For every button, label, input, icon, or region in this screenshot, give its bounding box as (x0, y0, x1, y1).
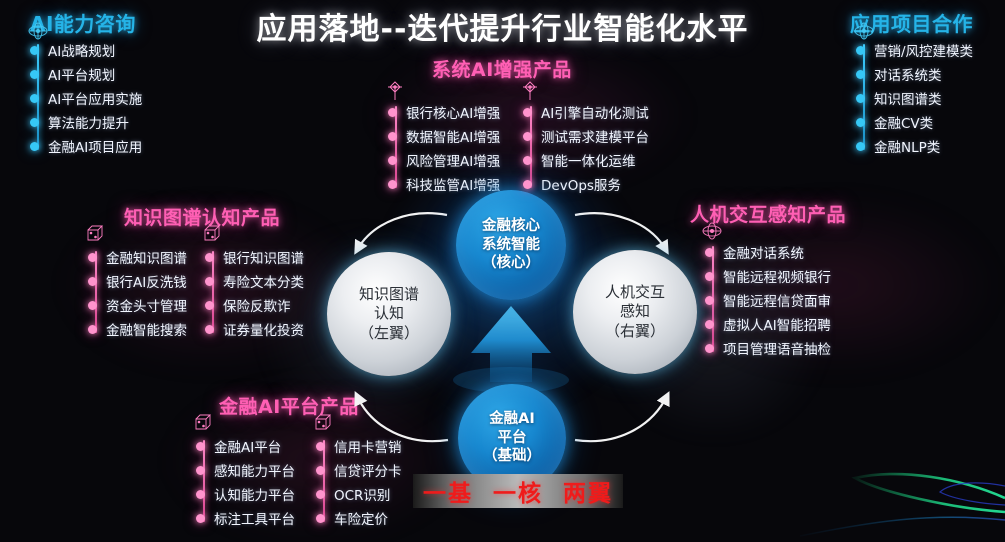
list-item[interactable]: 金融CV类 (856, 110, 973, 134)
list-human-interaction: 金融对话系统 智能远程视频银行 智能远程信贷面审 虚拟人AI智能招聘 项目管理语… (705, 240, 831, 360)
bullet-dot (30, 94, 39, 103)
bullet-dot (523, 132, 532, 141)
list-item[interactable]: OCR识别 (316, 482, 402, 506)
bullet-dot (388, 132, 397, 141)
list-item[interactable]: 保险反欺诈 (205, 293, 304, 317)
list-item[interactable]: 虚拟人AI智能招聘 (705, 312, 831, 336)
list-item[interactable]: AI引擎自动化测试 (523, 100, 649, 124)
list-knowledge-graph-col2: 银行知识图谱 寿险文本分类 保险反欺诈 证券量化投资 (205, 245, 304, 341)
bullet-dot (205, 277, 214, 286)
section-heading-system-ai: 系统AI增强产品 (432, 55, 572, 82)
bullet-dot (856, 46, 865, 55)
bullet-dot (196, 514, 205, 523)
list-item[interactable]: 营销/风控建模类 (856, 38, 973, 62)
list-item[interactable]: 金融NLP类 (856, 134, 973, 158)
list-item[interactable]: 金融对话系统 (705, 240, 831, 264)
bullet-dot (388, 156, 397, 165)
bullet-dot (316, 490, 325, 499)
bullet-dot (705, 344, 714, 353)
diagram-node-left-wing[interactable]: 知识图谱 认知 （左翼） (327, 252, 451, 376)
list-item[interactable]: AI平台应用实施 (30, 86, 142, 110)
section-heading-financial-ai-platform: 金融AI平台产品 (219, 392, 359, 419)
bullet-dot (856, 94, 865, 103)
list-item[interactable]: 金融AI项目应用 (30, 134, 142, 158)
list-item[interactable]: 数据智能AI增强 (388, 124, 500, 148)
list-item[interactable]: 项目管理语音抽检 (705, 336, 831, 360)
bullet-dot (856, 70, 865, 79)
list-system-ai-col1: 银行核心AI增强 数据智能AI增强 风险管理AI增强 科技监管AI增强 (388, 100, 500, 196)
list-ai-consulting: AI战略规划 AI平台规划 AI平台应用实施 算法能力提升 金融AI项目应用 (30, 38, 142, 158)
bullet-dot (30, 142, 39, 151)
list-item[interactable]: 金融AI平台 (196, 434, 295, 458)
list-item[interactable]: 标注工具平台 (196, 506, 295, 530)
bullet-dot (388, 108, 397, 117)
list-item[interactable]: 认知能力平台 (196, 482, 295, 506)
bullet-dot (30, 46, 39, 55)
list-item[interactable]: 银行知识图谱 (205, 245, 304, 269)
bullet-dot (705, 272, 714, 281)
bullet-dot (856, 118, 865, 127)
network-node-icon (700, 220, 724, 242)
list-item[interactable]: 寿险文本分类 (205, 269, 304, 293)
up-arrow-icon (453, 306, 569, 393)
list-item[interactable]: 证券量化投资 (205, 317, 304, 341)
slogan-part-3: 两翼 (563, 474, 613, 508)
bullet-dot (196, 490, 205, 499)
list-system-ai-col2: AI引擎自动化测试 测试需求建模平台 智能一体化运维 DevOps服务 (523, 100, 649, 196)
cube-node-icon (312, 412, 336, 434)
cross-node-icon (383, 80, 407, 102)
list-item[interactable]: 风险管理AI增强 (388, 148, 500, 172)
bullet-dot (205, 325, 214, 334)
slogan-part-2: 一核 (493, 474, 543, 508)
list-item[interactable]: 智能远程视频银行 (705, 264, 831, 288)
bullet-dot (88, 325, 97, 334)
cross-node-icon (518, 80, 542, 102)
bullet-dot (316, 442, 325, 451)
diagram-node-core[interactable]: 金融核心 系统智能 （核心） (456, 190, 566, 300)
list-item[interactable]: 信用卡营销 (316, 434, 402, 458)
slide-canvas: 应用落地--迭代提升行业智能化水平 AI能力咨询 AI战略规划 AI平台规划 A… (0, 0, 1005, 542)
list-financial-ai-col1: 金融AI平台 感知能力平台 认知能力平台 标注工具平台 (196, 434, 295, 530)
bullet-dot (30, 70, 39, 79)
bullet-dot (705, 296, 714, 305)
list-item[interactable]: 资金头寸管理 (88, 293, 187, 317)
cube-node-icon (201, 223, 225, 245)
list-item[interactable]: 银行AI反洗钱 (88, 269, 187, 293)
list-item[interactable]: 金融知识图谱 (88, 245, 187, 269)
list-item[interactable]: 金融智能搜索 (88, 317, 187, 341)
list-item[interactable]: 算法能力提升 (30, 110, 142, 134)
bullet-dot (196, 466, 205, 475)
slogan-part-1: 一基 (423, 474, 473, 508)
bullet-dot (316, 514, 325, 523)
list-item[interactable]: DevOps服务 (523, 172, 649, 196)
bullet-dot (705, 248, 714, 257)
bullet-dot (88, 277, 97, 286)
list-item[interactable]: 对话系统类 (856, 62, 973, 86)
bullet-dot (88, 301, 97, 310)
list-item[interactable]: 智能一体化运维 (523, 148, 649, 172)
list-item[interactable]: AI战略规划 (30, 38, 142, 62)
bullet-dot (205, 253, 214, 262)
decorative-curves (800, 474, 1005, 536)
bullet-dot (523, 108, 532, 117)
list-item[interactable]: 测试需求建模平台 (523, 124, 649, 148)
list-item[interactable]: 银行核心AI增强 (388, 100, 500, 124)
list-item[interactable]: 科技监管AI增强 (388, 172, 500, 196)
list-project-cooperation: 营销/风控建模类 对话系统类 知识图谱类 金融CV类 金融NLP类 (856, 38, 973, 158)
bullet-dot (205, 301, 214, 310)
list-item[interactable]: 车险定价 (316, 506, 402, 530)
bullet-dot (30, 118, 39, 127)
bullet-dot (523, 180, 532, 189)
bullet-dot (388, 180, 397, 189)
diagram-node-right-wing[interactable]: 人机交互 感知 （右翼） (573, 250, 697, 374)
bullet-dot (523, 156, 532, 165)
bullet-dot (705, 320, 714, 329)
list-knowledge-graph-col1: 金融知识图谱 银行AI反洗钱 资金头寸管理 金融智能搜索 (88, 245, 187, 341)
list-item[interactable]: 信贷评分卡 (316, 458, 402, 482)
list-financial-ai-col2: 信用卡营销 信贷评分卡 OCR识别 车险定价 (316, 434, 402, 530)
bullet-dot (196, 442, 205, 451)
bullet-dot (316, 466, 325, 475)
bullet-dot (856, 142, 865, 151)
bullet-dot (88, 253, 97, 262)
list-item[interactable]: 智能远程信贷面审 (705, 288, 831, 312)
cube-node-icon (84, 223, 108, 245)
list-item[interactable]: 感知能力平台 (196, 458, 295, 482)
list-item[interactable]: 知识图谱类 (856, 86, 973, 110)
list-item[interactable]: AI平台规划 (30, 62, 142, 86)
slogan-banner: 一基 一核 两翼 (413, 474, 623, 508)
cube-node-icon (192, 412, 216, 434)
